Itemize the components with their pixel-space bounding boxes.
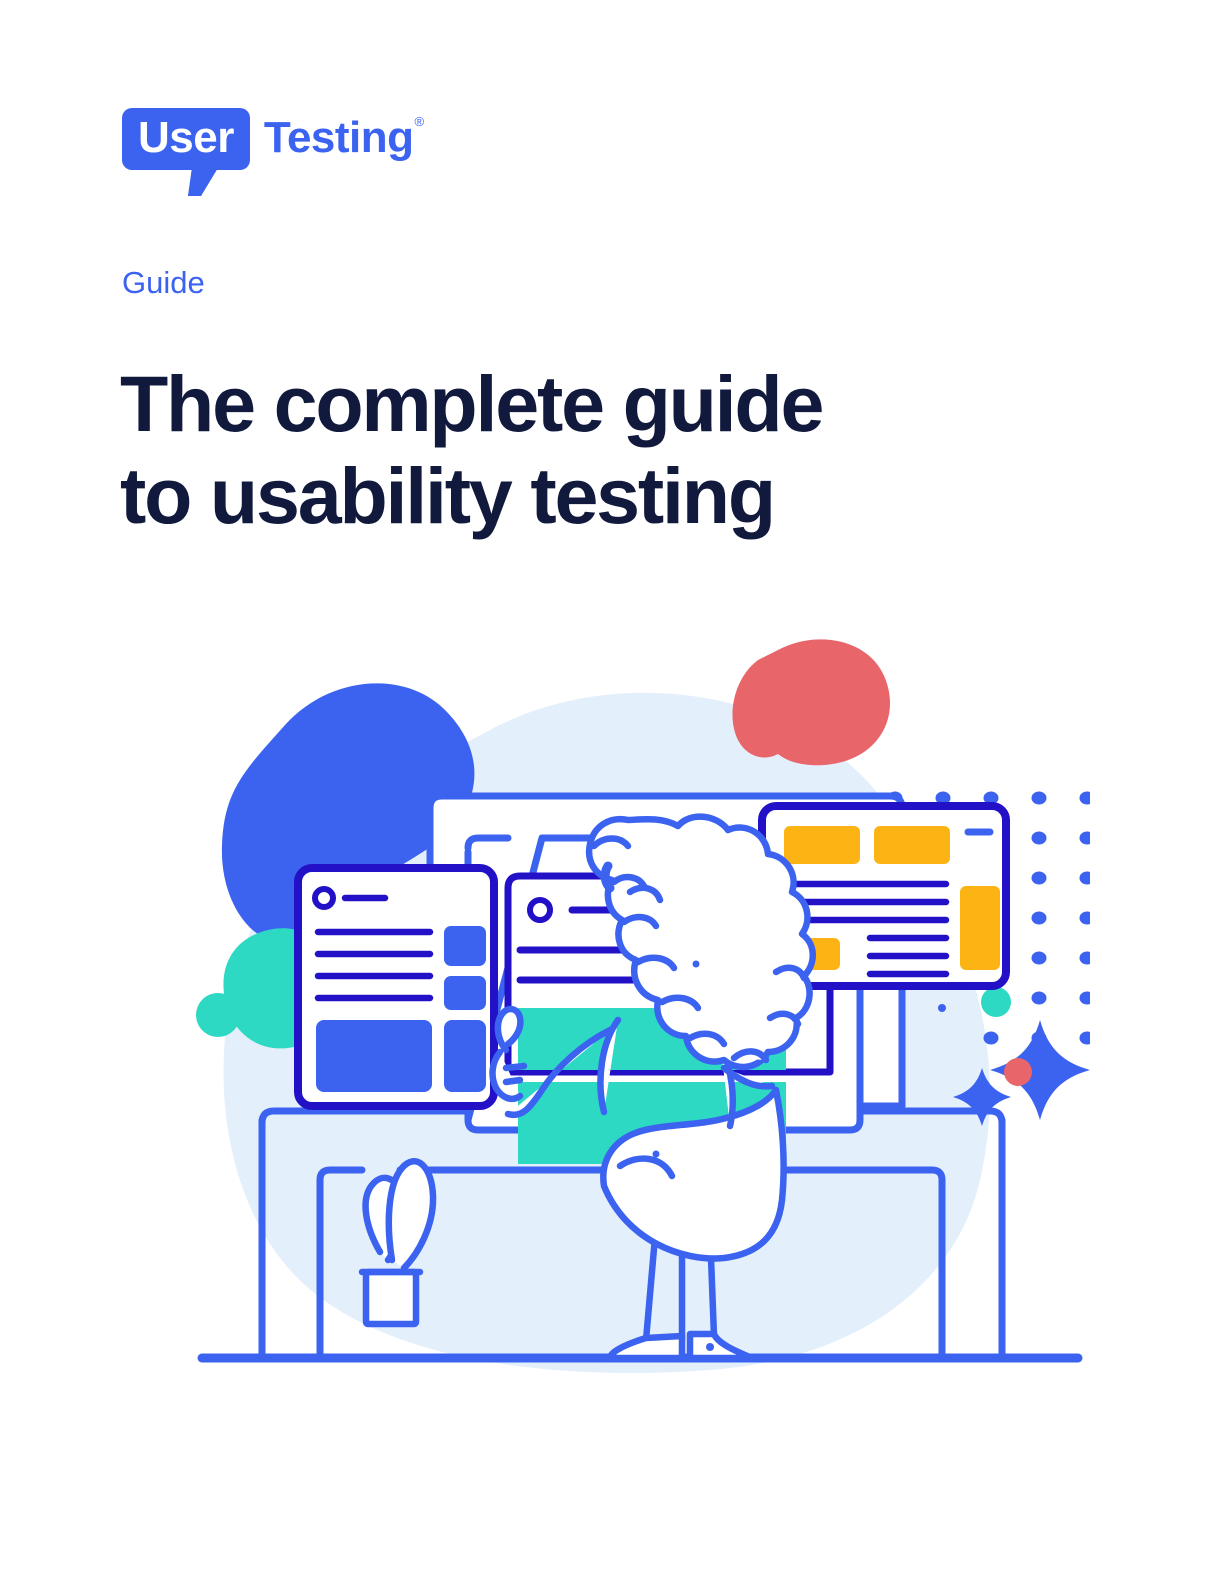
tiny-dot-a — [938, 1004, 946, 1012]
left-card-dot-icon — [315, 889, 333, 907]
floor-accent-dot — [706, 1343, 714, 1351]
teal-accent-dot — [981, 987, 1011, 1017]
page-title-line-2: to usability testing — [120, 450, 1020, 542]
front-window-dot-icon — [530, 900, 550, 920]
speech-bubble-tail-icon — [188, 168, 218, 196]
page-title-line-1: The complete guide — [120, 359, 822, 448]
right-card-block-a — [784, 826, 860, 864]
logo-badge-label: User — [138, 116, 234, 160]
teal-blob-small — [196, 993, 240, 1037]
left-card-block-a — [444, 926, 486, 966]
right-card-block-b — [874, 826, 950, 864]
logo-badge: User — [122, 108, 250, 170]
right-card-block-tall — [960, 886, 1000, 970]
left-floating-card — [298, 868, 494, 1106]
logo-wordmark-label: Testing — [264, 113, 414, 162]
cover-page: User Testing® Guide The complete guide t… — [0, 0, 1224, 1584]
content-type-eyebrow: Guide — [122, 265, 205, 301]
logo-wordmark: Testing® — [264, 116, 423, 160]
left-card-block-c — [444, 1020, 486, 1092]
page-title: The complete guide to usability testing — [120, 358, 1020, 541]
left-card-block-main — [316, 1020, 432, 1092]
cover-illustration — [190, 620, 1090, 1420]
left-card-block-b — [444, 976, 486, 1010]
coral-accent-dot — [1004, 1058, 1032, 1086]
usertesting-logo[interactable]: User Testing® — [122, 108, 423, 170]
registered-trademark-icon: ® — [415, 114, 424, 129]
